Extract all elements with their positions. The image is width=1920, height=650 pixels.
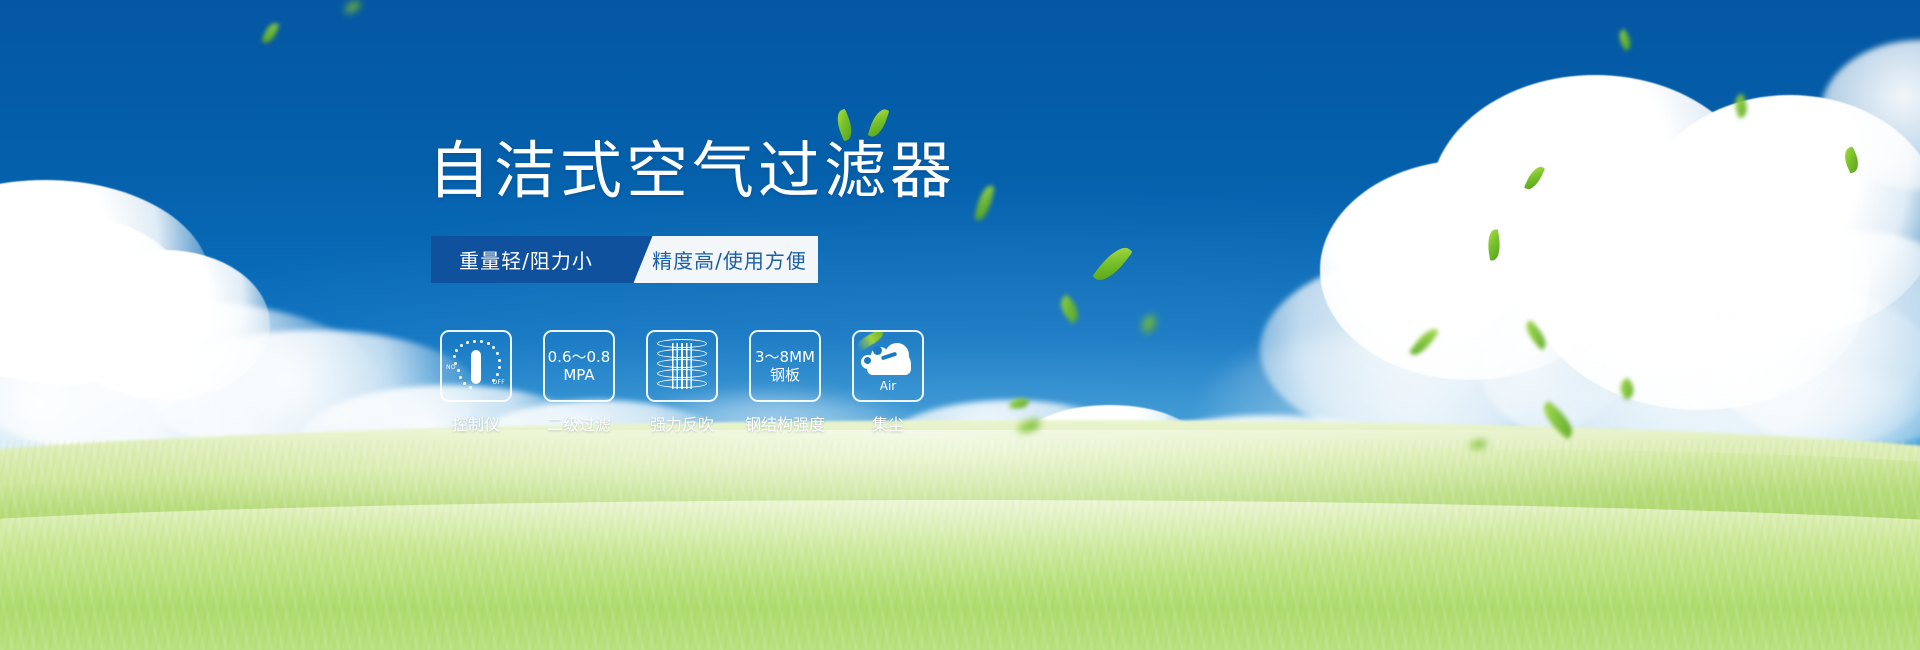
feature-caption: 强力反吹 <box>650 411 714 435</box>
banner-content: 自洁式空气过滤器 重量轻/阻力小 精度高/使用方便 <box>0 0 1920 650</box>
tag-lightweight-lowresistance: 重量轻/阻力小 <box>431 236 627 283</box>
tag-left-label: 重量轻/阻力小 <box>459 245 599 274</box>
page-title: 自洁式空气过滤器 <box>428 135 956 207</box>
pressure-icon: 0.6～0.8 MPA <box>548 348 611 384</box>
feature-icon-box: Air <box>852 330 924 402</box>
feature-icon-box: NO OFF <box>440 330 512 402</box>
coil-filter-icon <box>657 339 707 393</box>
feature-two-stage-filter: 0.6～0.8 MPA 二级过滤 <box>543 330 615 435</box>
feature-caption: 二级过滤 <box>547 411 611 435</box>
feature-list: NO OFF 控制仪 0.6～0.8 MPA 二级过滤 <box>440 330 924 435</box>
feature-caption: 集尘 <box>872 411 904 435</box>
tag-highprecision-easyuse: 精度高/使用方便 <box>627 236 818 283</box>
pressure-value: 0.6～0.8 <box>548 348 611 366</box>
steel-plate-icon: 3～8MM 钢板 <box>755 348 815 384</box>
feature-dust-collection: Air 集尘 <box>852 330 924 435</box>
steel-thickness: 3～8MM <box>755 348 815 366</box>
feature-icon-box: 3～8MM 钢板 <box>749 330 821 402</box>
pressure-unit: MPA <box>548 366 611 384</box>
feature-caption: 钢结构强度 <box>745 411 825 435</box>
gauge-icon: NO OFF <box>446 338 506 394</box>
feature-icon-box <box>646 330 718 402</box>
gauge-label-off: OFF <box>492 379 505 386</box>
tag-right-label: 精度高/使用方便 <box>638 245 807 274</box>
feature-caption: 控制仪 <box>452 411 500 435</box>
feature-icon-box: 0.6～0.8 MPA <box>543 330 615 402</box>
tag-bar: 重量轻/阻力小 精度高/使用方便 <box>431 236 818 283</box>
air-cloud-icon: Air <box>859 341 917 391</box>
steel-material: 钢板 <box>755 366 815 384</box>
gauge-label-no: NO <box>446 364 456 371</box>
feature-controller: NO OFF 控制仪 <box>440 330 512 435</box>
feature-strong-backblow: 强力反吹 <box>646 330 718 435</box>
gauge-needle <box>471 350 481 384</box>
feature-steel-strength: 3～8MM 钢板 钢结构强度 <box>749 330 821 435</box>
air-label: Air <box>859 379 917 393</box>
hero-banner: 自洁式空气过滤器 重量轻/阻力小 精度高/使用方便 <box>0 0 1920 650</box>
